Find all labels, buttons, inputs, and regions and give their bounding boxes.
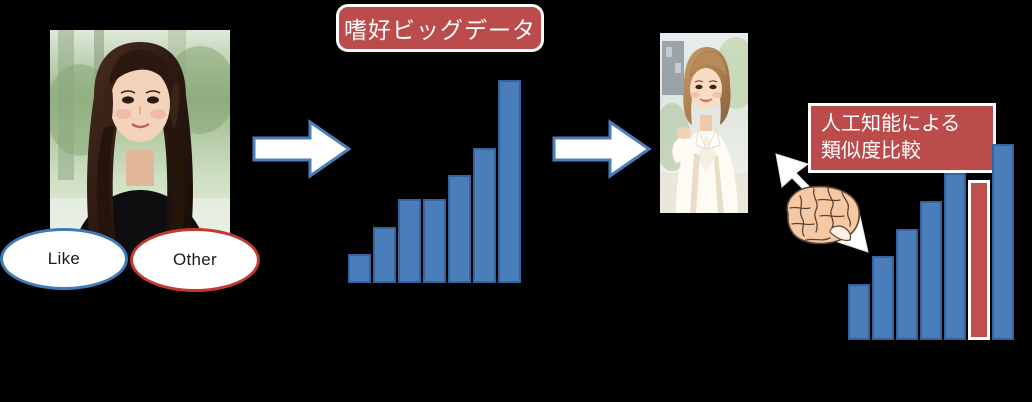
bar-6 bbox=[473, 148, 496, 283]
bar-5 bbox=[944, 173, 966, 340]
bar-4 bbox=[423, 199, 446, 283]
bar-2 bbox=[872, 256, 894, 340]
preference-big-data-chart bbox=[348, 73, 530, 283]
label-preference-big-data: 嗜好ビッグデータ bbox=[336, 4, 544, 52]
bar-3 bbox=[896, 229, 918, 340]
bar-2 bbox=[373, 227, 396, 283]
choice-like-pill[interactable]: Like bbox=[0, 228, 128, 290]
bar-5 bbox=[448, 175, 471, 283]
bar-7 bbox=[992, 144, 1014, 340]
choice-other-label: Other bbox=[173, 250, 217, 270]
label-preference-big-data-text: 嗜好ビッグデータ bbox=[344, 11, 536, 45]
bar-7 bbox=[498, 80, 521, 283]
choice-like-label: Like bbox=[48, 249, 80, 269]
bar-1 bbox=[348, 254, 371, 283]
bar-4 bbox=[920, 201, 942, 340]
label-ai-similarity-line1: 人工知能による bbox=[821, 111, 960, 138]
choice-other-pill[interactable]: Other bbox=[130, 228, 260, 292]
arrow-right-icon bbox=[552, 118, 652, 185]
ai-similarity-comparison-chart bbox=[848, 136, 1020, 340]
arrow-right-icon bbox=[252, 118, 352, 185]
diagram-canvas: Like Other 嗜好ビッグデータ bbox=[0, 0, 1032, 402]
bar-6 bbox=[968, 180, 990, 340]
bar-3 bbox=[398, 199, 421, 283]
matched-portrait-short-light-hair bbox=[660, 33, 748, 213]
bar-1 bbox=[848, 284, 870, 340]
